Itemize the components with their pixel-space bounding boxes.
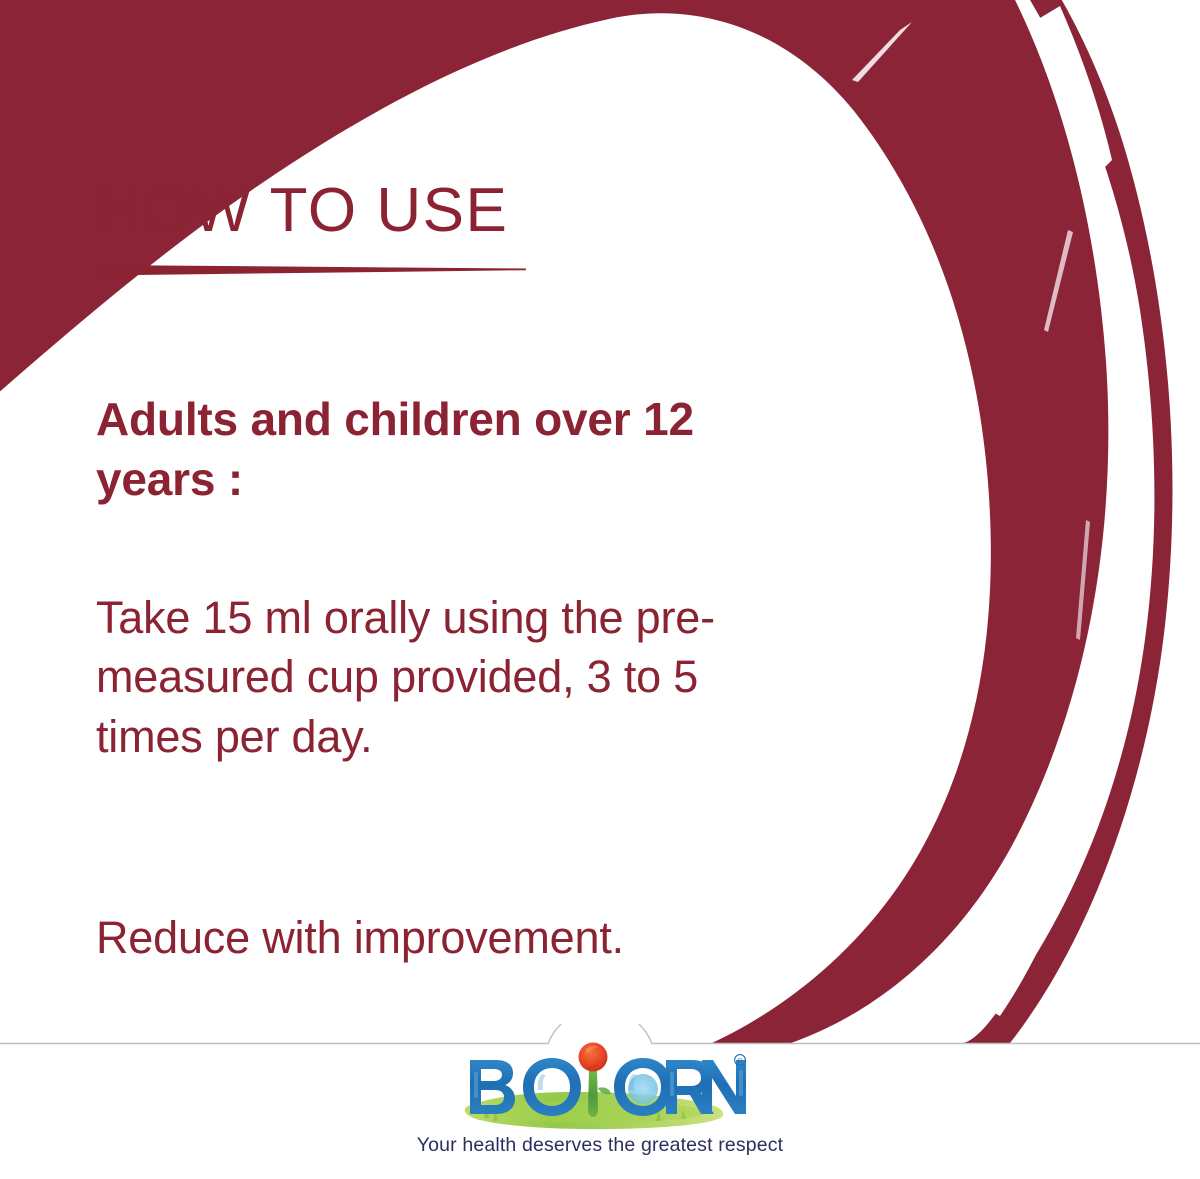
logo-flower-head: [579, 1043, 608, 1072]
title-block: HOW TO USE: [96, 178, 716, 276]
dosage-note: Reduce with improvement.: [96, 908, 836, 967]
boiron-logo: R: [450, 1042, 750, 1134]
logo-flower-stem: [588, 1064, 598, 1117]
dosage-heading: Adults and children over 12 years :: [96, 390, 716, 510]
brand-footer: R Your health deserves the greatest resp…: [0, 1040, 1200, 1179]
dosage-instructions: Take 15 ml orally using the pre-measured…: [96, 588, 812, 766]
title-underline: [96, 265, 526, 276]
poster-canvas: HOW TO USE Adults and children over 12 y…: [0, 0, 1200, 1179]
svg-text:R: R: [737, 1056, 742, 1065]
content-area: HOW TO USE Adults and children over 12 y…: [0, 0, 1200, 1179]
page-title: HOW TO USE: [96, 178, 716, 243]
brand-tagline: Your health deserves the greatest respec…: [417, 1134, 783, 1157]
